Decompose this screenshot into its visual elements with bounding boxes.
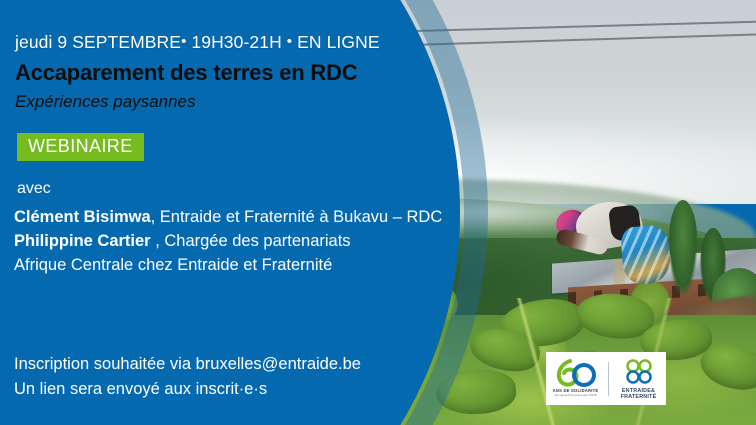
logo-divider: [608, 362, 609, 396]
anniversary-logo: ANS DE SOLIDARITÉ pour que la Terre tour…: [549, 356, 603, 401]
event-date: jeudi 9 SEPTEMBRE: [15, 32, 181, 52]
speaker-role: , Chargée des partenariats: [151, 232, 351, 250]
webinar-poster: jeudi 9 SEPTEMBRE• 19H30-21H • EN LIGNE …: [0, 0, 756, 425]
entraide-fraternite-logo: ENTRAIDE& FRATERNITÉ: [614, 356, 664, 401]
bullet-separator: •: [287, 33, 292, 50]
anniversary-caption: ANS DE SOLIDARITÉ: [553, 388, 599, 393]
event-dateline: jeudi 9 SEPTEMBRE• 19H30-21H • EN LIGNE: [15, 32, 380, 53]
speaker-role-continued: Afrique Centrale chez Entraide et Frater…: [14, 253, 442, 277]
registration-info: Inscription souhaitée via bruxelles@entr…: [14, 352, 361, 402]
organisation-line-2: FRATERNITÉ: [621, 394, 657, 400]
registration-line-1: Inscription souhaitée via bruxelles@entr…: [14, 352, 361, 377]
sixty-years-icon: [553, 357, 599, 387]
speaker-name: Clément Bisimwa: [14, 208, 151, 226]
registration-line-2: Un lien sera envoyé aux inscrit·e·s: [14, 377, 361, 402]
list-item: Clément Bisimwa, Entraide et Fraternité …: [14, 205, 442, 229]
page-title: Accaparement des terres en RDC: [15, 60, 357, 86]
logo-block: ANS DE SOLIDARITÉ pour que la Terre tour…: [546, 352, 666, 405]
event-time: 19H30-21H: [191, 32, 281, 52]
anniversary-subcaption: pour que la Terre tourne plus JUSTE: [554, 394, 596, 397]
bullet-separator: •: [181, 33, 186, 50]
status-badge: WEBINAIRE: [17, 133, 144, 161]
speaker-role: , Entraide et Fraternité à Bukavu – RDC: [151, 208, 443, 226]
with-label: avec: [17, 180, 51, 198]
event-mode: EN LIGNE: [297, 32, 380, 52]
interlocking-loops-icon: [622, 358, 656, 386]
page-subtitle: Expériences paysannes: [15, 92, 196, 112]
speakers-list: Clément Bisimwa, Entraide et Fraternité …: [14, 205, 442, 277]
organisation-name: ENTRAIDE& FRATERNITÉ: [621, 388, 657, 400]
list-item: Philippine Cartier , Chargée des partena…: [14, 229, 442, 253]
speaker-name: Philippine Cartier: [14, 232, 151, 250]
